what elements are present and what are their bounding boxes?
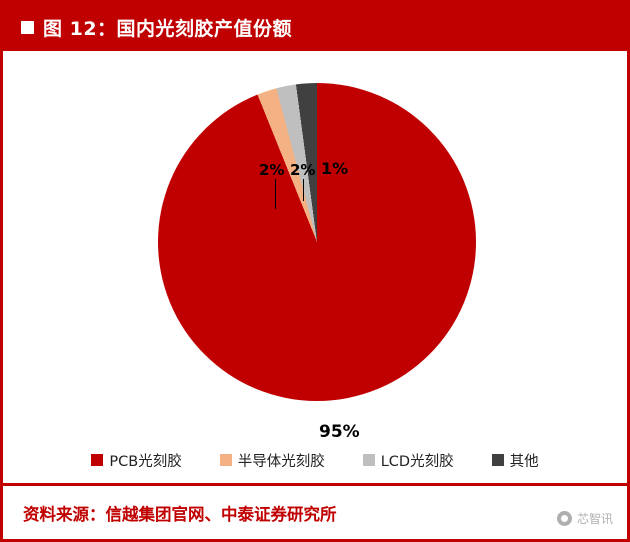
legend-item-semiconductor[interactable]: 半导体光刻胶 — [220, 450, 325, 471]
legend-item-pcb[interactable]: PCB光刻胶 — [91, 450, 181, 471]
legend-swatch-icon — [492, 454, 504, 466]
leader-line-1 — [275, 179, 276, 209]
source-bar: 资料来源：信越集团官网、中泰证券研究所 — [3, 483, 627, 539]
legend-label: 其他 — [510, 450, 539, 471]
watermark-label: 芯智讯 — [577, 510, 613, 527]
legend-label: PCB光刻胶 — [109, 450, 181, 471]
source-text: 资料来源：信越集团官网、中泰证券研究所 — [23, 501, 337, 525]
legend-label: LCD光刻胶 — [381, 450, 454, 471]
slice-label-other: 1% — [321, 159, 348, 178]
figure-card: 图 12：国内光刻胶产值份额 95% 2% 2% 1% PCB光刻胶 半导体光刻… — [0, 0, 630, 542]
legend-item-lcd[interactable]: LCD光刻胶 — [363, 450, 454, 471]
slice-label-semiconductor: 2% — [259, 161, 284, 179]
pie-chart — [158, 83, 476, 401]
square-marker-icon — [21, 21, 34, 34]
chart-area: 95% 2% 2% 1% — [3, 51, 627, 436]
watermark-logo-icon — [557, 511, 572, 526]
figure-title-bar: 图 12：国内光刻胶产值份额 — [3, 3, 627, 51]
pie-disc — [158, 83, 476, 401]
legend-label: 半导体光刻胶 — [238, 450, 325, 471]
legend-item-other[interactable]: 其他 — [492, 450, 539, 471]
watermark: 芯智讯 — [557, 510, 613, 527]
page-title: 图 12：国内光刻胶产值份额 — [43, 14, 292, 41]
leader-line-2 — [303, 179, 304, 201]
legend-swatch-icon — [220, 454, 232, 466]
legend-swatch-icon — [363, 454, 375, 466]
legend: PCB光刻胶 半导体光刻胶 LCD光刻胶 其他 — [3, 436, 627, 484]
legend-swatch-icon — [91, 454, 103, 466]
slice-label-lcd: 2% — [290, 161, 315, 179]
